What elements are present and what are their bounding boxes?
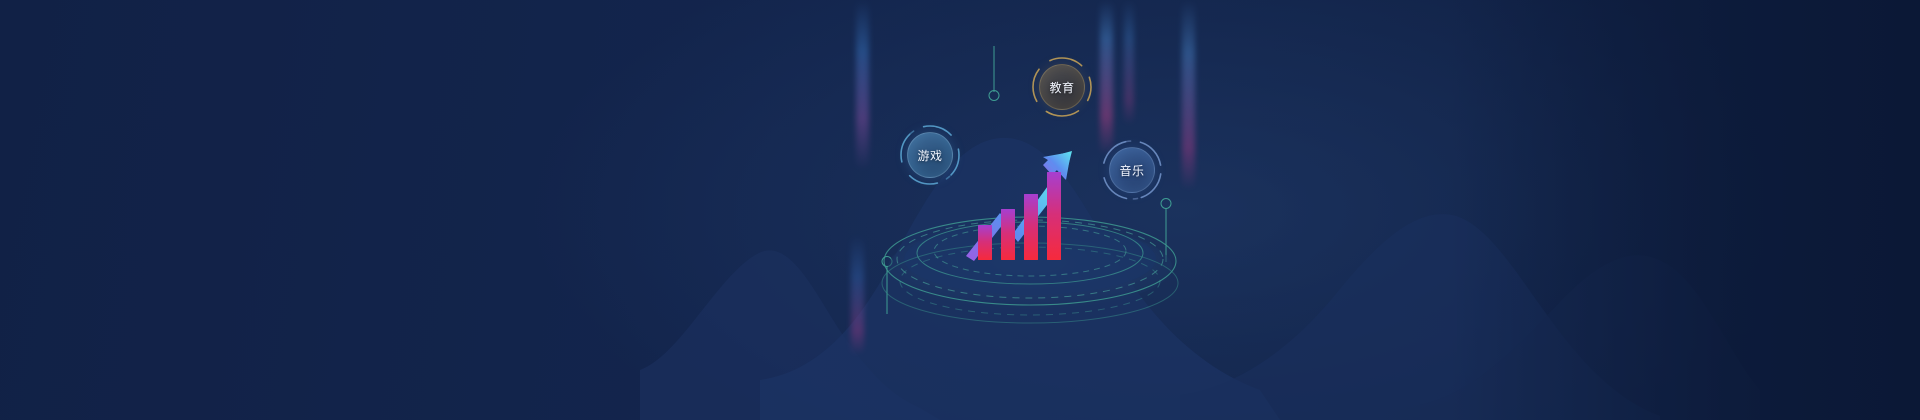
light-beam-4 [1124,0,1134,125]
background-right-vignette [1450,0,1920,420]
badge-music[interactable]: 音乐 [1100,138,1164,202]
map-pin-top[interactable] [988,46,1000,102]
map-pin-icon [989,90,1000,101]
bar-3 [1024,194,1038,260]
light-beam-2 [851,235,864,355]
badge-education[interactable]: 教育 [1030,55,1094,119]
light-beam-3 [1100,0,1113,155]
light-beam-5 [1182,0,1195,190]
bar-4 [1047,172,1061,260]
bar-1 [978,225,992,260]
badge-education-label: 教育 [1039,64,1085,110]
growth-chart [960,130,1080,260]
badge-games[interactable]: 游戏 [898,123,962,187]
map-pin-stem [994,46,995,92]
banner-root: 游戏 教育 音乐 [0,0,1920,420]
badge-games-label: 游戏 [907,132,953,178]
light-beam-1 [856,0,869,170]
bar-2 [1001,209,1015,260]
badge-music-label: 音乐 [1109,147,1155,193]
